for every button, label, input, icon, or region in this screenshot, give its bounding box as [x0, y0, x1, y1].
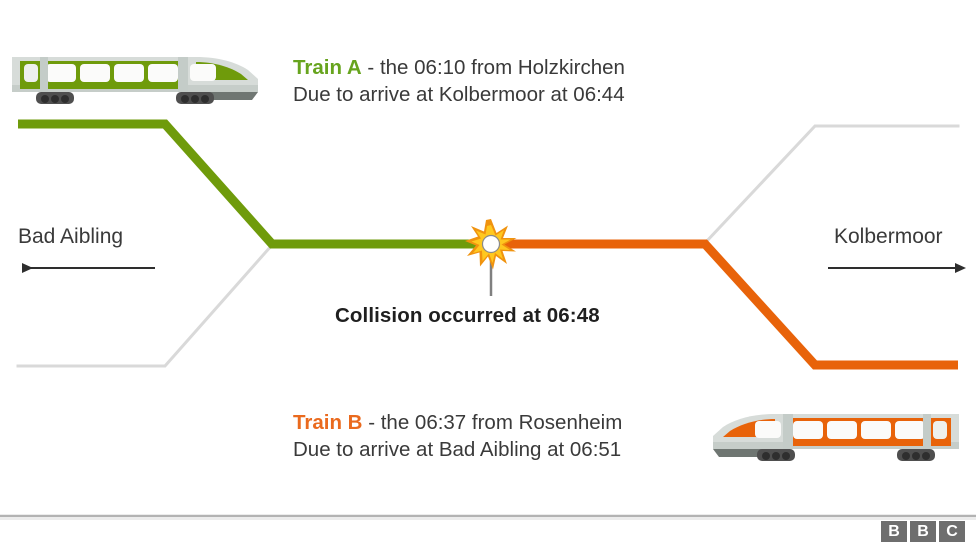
train-a-caption-line1: Train A - the 06:10 from Holzkirchen [293, 54, 625, 81]
infographic-canvas: Train A - the 06:10 from Holzkirchen Due… [0, 0, 976, 549]
bbc-logo-letter-1: B [881, 521, 907, 542]
train-b-caption: Train B - the 06:37 from Rosenheim Due t… [293, 409, 622, 463]
bbc-logo: B B C [881, 521, 965, 542]
train-b-caption-line1: Train B - the 06:37 from Rosenheim [293, 409, 622, 436]
train-a-caption-line2: Due to arrive at Kolbermoor at 06:44 [293, 81, 625, 108]
bbc-logo-letter-3: C [939, 521, 965, 542]
collision-label: Collision occurred at 06:48 [335, 304, 600, 328]
train-left-icon [713, 414, 959, 461]
bbc-logo-letter-2: B [910, 521, 936, 542]
train-b-caption-line2: Due to arrive at Bad Aibling at 06:51 [293, 436, 622, 463]
inactive-track-left [18, 245, 272, 366]
train-b-dash: - [363, 411, 381, 434]
train-a-description: the 06:10 from Holzkirchen [380, 56, 625, 79]
train-a-dash: - [362, 56, 380, 79]
train-a-caption: Train A - the 06:10 from Holzkirchen Due… [293, 54, 625, 108]
train-b-description: the 06:37 from Rosenheim [381, 411, 623, 434]
train-a-name: Train A [293, 56, 362, 79]
station-label-right: Kolbermoor [834, 225, 943, 249]
train-b-name: Train B [293, 411, 363, 434]
train-right-icon [12, 57, 258, 104]
station-label-left: Bad Aibling [18, 225, 123, 249]
